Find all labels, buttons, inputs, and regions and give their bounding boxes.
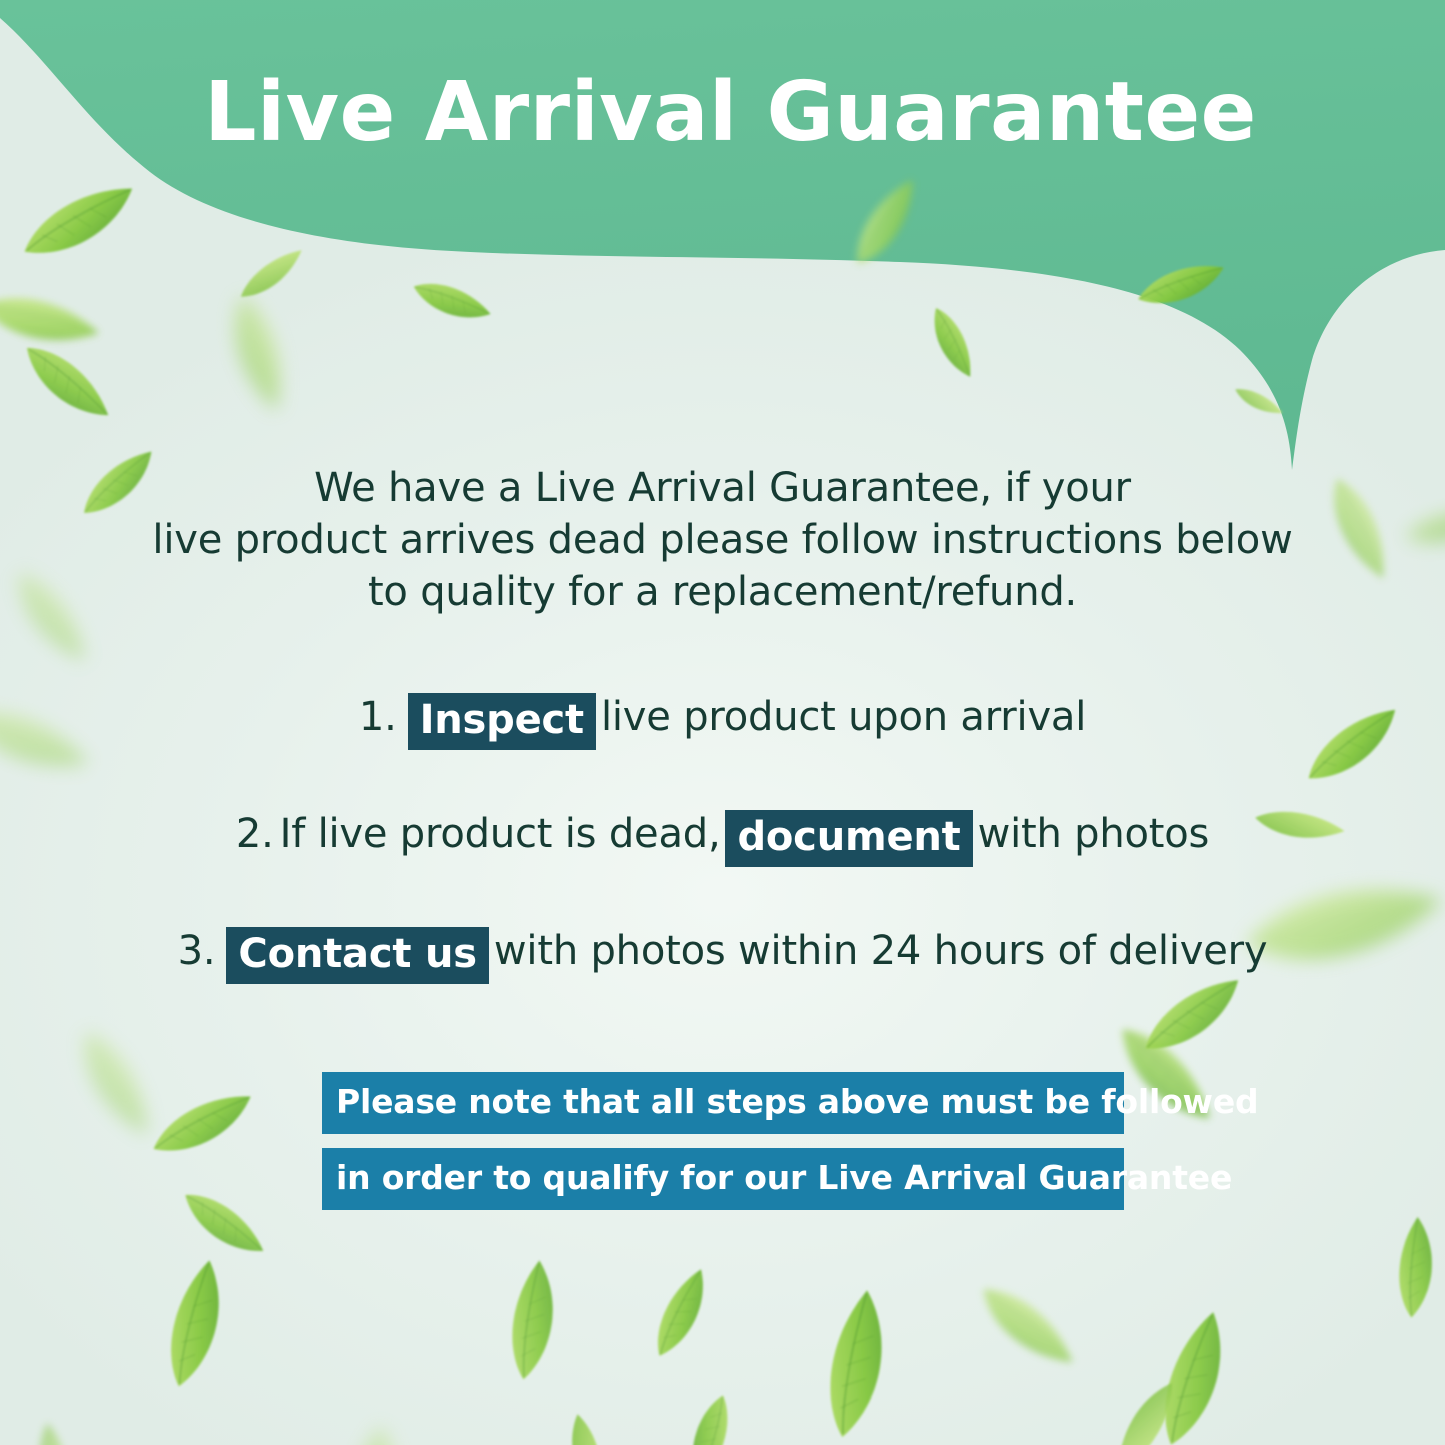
step-2-number: 2. <box>236 811 274 857</box>
intro-paragraph: We have a Live Arrival Guarantee, if you… <box>0 462 1445 618</box>
step-item-3: 3.Contact uswith photos within 24 hours … <box>0 920 1445 984</box>
intro-line-3: to quality for a replacement/refund. <box>0 566 1445 618</box>
poster-content: We have a Live Arrival Guarantee, if you… <box>0 0 1445 1445</box>
step-1-highlight: Inspect <box>408 693 596 750</box>
note-line-1: Please note that all steps above must be… <box>322 1072 1124 1134</box>
step-item-2: 2.If live product is dead,documentwith p… <box>0 803 1445 867</box>
live-arrival-guarantee-poster: Live Arrival Guarantee <box>0 0 1445 1445</box>
step-3-number: 3. <box>178 928 216 974</box>
steps-list: 1.Inspectlive product upon arrival 2.If … <box>0 686 1445 984</box>
step-1-text-after: live product upon arrival <box>601 694 1086 740</box>
intro-line-1: We have a Live Arrival Guarantee, if you… <box>0 462 1445 514</box>
step-2-text-after: with photos <box>978 811 1210 857</box>
note-banner: Please note that all steps above must be… <box>322 1072 1124 1210</box>
note-line-2: in order to qualify for our Live Arrival… <box>322 1148 1124 1210</box>
step-2-text-before: If live product is dead, <box>280 811 721 857</box>
step-3-highlight: Contact us <box>226 927 488 984</box>
step-1-number: 1. <box>359 694 397 740</box>
step-3-text-after: with photos within 24 hours of delivery <box>494 928 1267 974</box>
intro-line-2: live product arrives dead please follow … <box>0 514 1445 566</box>
step-2-highlight: document <box>725 810 972 867</box>
step-item-1: 1.Inspectlive product upon arrival <box>0 686 1445 750</box>
